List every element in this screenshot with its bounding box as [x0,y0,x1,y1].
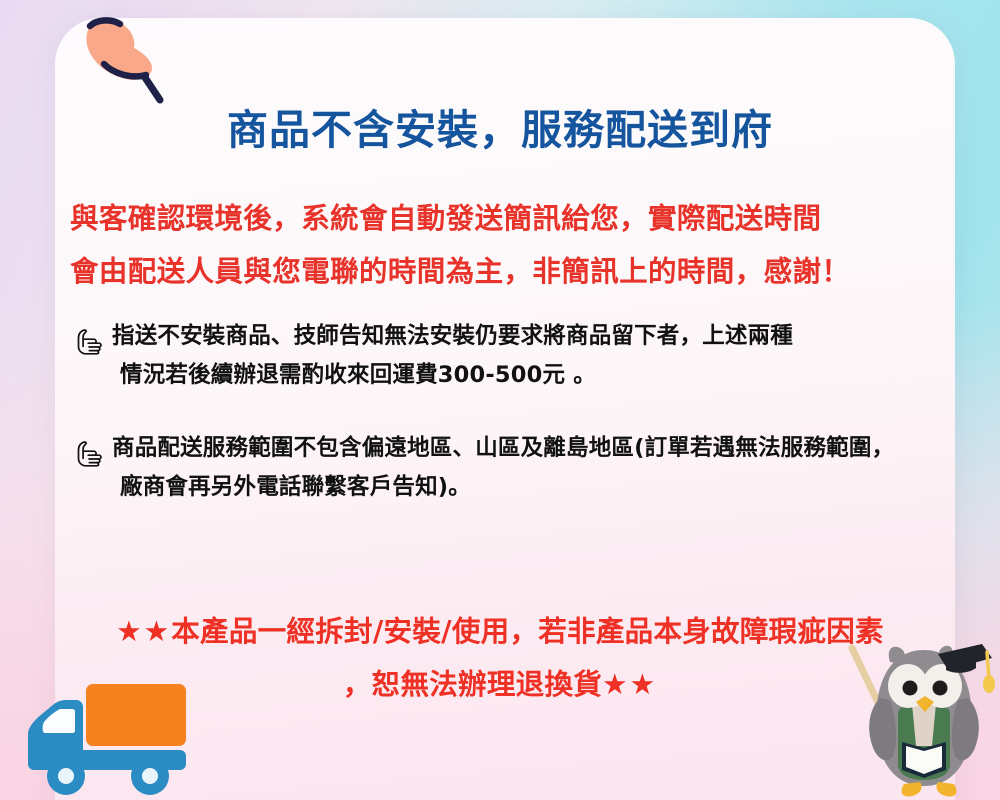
notice-item-line-1: 指送不安裝商品、技師告知無法安裝仍要求將商品留下者，上述兩種 [112,325,954,348]
page-title: 商品不含安裝，服務配送到府 [0,96,1000,156]
notice-item-return-fee: 指送不安裝商品、技師告知無法安裝仍要求將商品留下者，上述兩種 情況若後續辦退需酌… [74,325,954,386]
pushpin-icon [60,8,170,104]
notice-item-service-area: 商品配送服務範圍不包含偏遠地區、山區及離島地區(訂單若遇無法服務範圍， 廠商會再… [74,437,954,498]
warning-text-2: ，恕無法辦理退換貨 [343,668,602,701]
star-decoration-left: ★★ [116,615,171,648]
notice-item-line-1: 商品配送服務範圍不包含偏遠地區、山區及離島地區(訂單若遇無法服務範圍， [112,437,954,460]
notice-item-line-2: 廠商會再另外電話聯繫客戶告知)。 [120,476,954,499]
delivery-truck-icon [14,676,226,800]
lead-line-2: 會由配送人員與您電聯的時間為主，非簡訊上的時間，感謝！ [70,249,940,290]
promo-poster: 商品不含安裝，服務配送到府 與客確認環境後，系統會自動發送簡訊給您，實際配送時間… [0,0,1000,800]
warning-text-1: 本產品一經拆封/安裝/使用，若非產品本身故障瑕疵因素 [171,615,884,648]
star-decoration-right: ★★ [602,668,657,701]
graduate-owl-icon [846,636,1000,800]
lead-line-1: 與客確認環境後，系統會自動發送簡訊給您，實際配送時間 [70,196,940,237]
pointing-hand-icon [74,439,108,469]
notice-item-line-2: 情況若後續辦退需酌收來回運費300-500元 。 [120,364,954,387]
pointing-hand-icon [74,327,108,357]
